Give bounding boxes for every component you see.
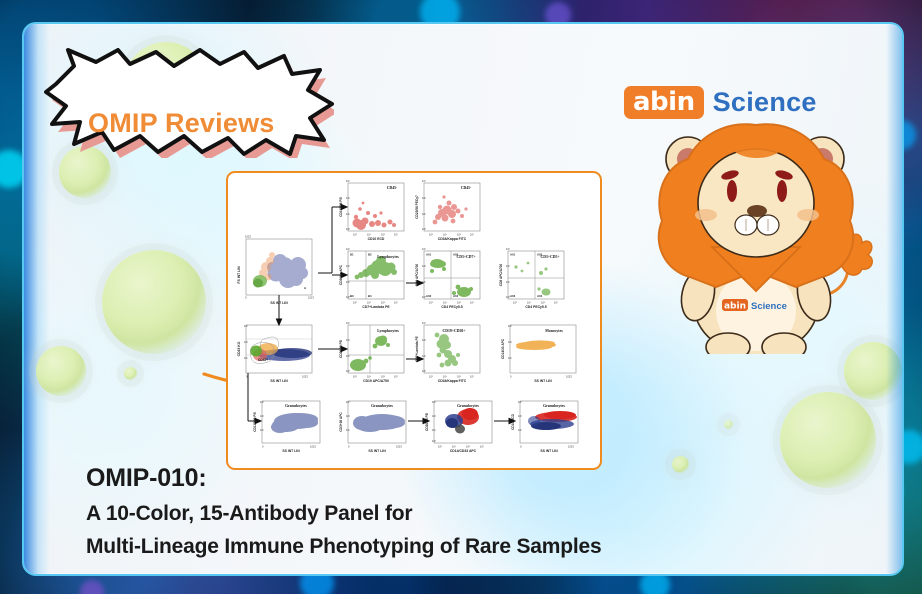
svg-text:10³: 10³ [244, 324, 248, 328]
svg-text:10³: 10³ [346, 179, 350, 183]
brand-logo-word: Science [713, 87, 817, 118]
svg-text:10³: 10³ [422, 247, 426, 251]
plot-p8-title: Lymphocytes [377, 329, 399, 333]
svg-text:10²: 10² [518, 414, 522, 418]
svg-text:10⁰: 10⁰ [429, 233, 434, 237]
svg-text:0: 0 [520, 445, 522, 449]
svg-text:10³: 10³ [346, 400, 350, 404]
svg-text:10¹: 10¹ [367, 301, 371, 305]
plot-p10: Monocytes SS INT LIN CD14/33 APC 10³10²1… [501, 324, 576, 383]
svg-text:10¹: 10¹ [346, 280, 350, 284]
svg-text:10⁰: 10⁰ [353, 233, 358, 237]
svg-text:10³: 10³ [422, 179, 426, 183]
svg-text:10³: 10³ [422, 321, 426, 325]
svg-text:10¹: 10¹ [452, 445, 456, 449]
burst-label: OMIP Reviews [88, 108, 274, 139]
svg-text:10³: 10³ [470, 233, 474, 237]
svg-text:10²: 10² [422, 338, 426, 342]
figure-canvas: A SS INT LIN FS INT LIN 1023 0 1023 [228, 173, 600, 468]
svg-text:0: 0 [245, 296, 247, 300]
plot-p11-title: Granulocytes [285, 404, 307, 408]
svg-text:B3: B3 [350, 294, 354, 298]
plot-p10-title: Monocytes [545, 329, 563, 333]
svg-text:10²: 10² [244, 340, 248, 344]
svg-text:10⁰: 10⁰ [513, 301, 518, 305]
svg-text:B4: B4 [368, 294, 372, 298]
svg-text:A01: A01 [510, 253, 516, 257]
plot-p13-xlabel: CD14/CD33 APC [450, 449, 477, 453]
svg-text:10³: 10³ [260, 400, 264, 404]
svg-text:1023: 1023 [245, 235, 251, 239]
plot-p12-ylabel: CD3+38 APC [339, 412, 343, 432]
plot-p3: CD45- CD34/Kappa FITC CD23/56 PECy7 10³1… [415, 179, 480, 241]
lion-mascot: abin Science [636, 119, 881, 354]
title-block: OMIP-010: A 10-Color, 15-Antibody Panel … [86, 464, 846, 559]
plot-p9: CD19+CD20+ CD34/Kappa FITC CD7+Lambda PE… [415, 321, 480, 383]
svg-text:10¹: 10¹ [443, 233, 447, 237]
plot-p12-title: Granulocytes [371, 404, 393, 408]
svg-text:10¹: 10¹ [244, 356, 248, 360]
svg-text:10²: 10² [346, 264, 350, 268]
plot-p6-title: CD3+CD7+ [456, 255, 475, 259]
svg-text:10²: 10² [381, 301, 385, 305]
cell-decoration [724, 420, 733, 429]
svg-text:10¹: 10¹ [527, 301, 531, 305]
plot-p12-xlabel: SS INT LIN [368, 449, 386, 453]
plot-p3-title: CD45- [461, 186, 472, 190]
plot-p5-xlabel: CD7+Lambda PE [362, 305, 390, 309]
plot-p11: Granulocytes SS INT LIN CD117/38 PB 10³1… [253, 400, 320, 453]
svg-text:10¹: 10¹ [367, 233, 371, 237]
svg-text:1023: 1023 [310, 445, 316, 449]
plot-p2-title: CD45- [387, 186, 398, 190]
svg-text:10³: 10³ [432, 400, 436, 404]
svg-text:10³: 10³ [506, 247, 510, 251]
comic-burst: OMIP Reviews [44, 48, 334, 158]
plot-p8: Lymphocytes CD19 APC/A750 CD20/38 PB 10³… [339, 321, 404, 383]
svg-text:10³: 10³ [394, 375, 398, 379]
svg-text:10¹: 10¹ [346, 428, 350, 432]
svg-text:A04: A04 [537, 294, 543, 298]
svg-text:10²: 10² [346, 196, 350, 200]
svg-text:10³: 10³ [470, 301, 474, 305]
svg-text:10²: 10² [457, 233, 461, 237]
plot-p14-title: Granulocytes [543, 404, 565, 408]
plot-p4-xlabel: SS INT LIN [270, 379, 288, 383]
svg-text:10¹: 10¹ [422, 354, 426, 358]
plot-p14-xlabel: SS INT LIN [540, 449, 558, 453]
plot-p13-title: Granulocytes [457, 404, 479, 408]
svg-text:10¹: 10¹ [422, 212, 426, 216]
svg-text:10²: 10² [432, 414, 436, 418]
svg-text:A01: A01 [426, 253, 432, 257]
svg-text:B2: B2 [368, 253, 372, 257]
svg-text:10³: 10³ [508, 324, 512, 328]
plot-p10-ylabel: CD14/33 APC [501, 338, 505, 359]
svg-text:1023: 1023 [308, 296, 314, 300]
svg-text:10³: 10³ [518, 400, 522, 404]
svg-text:0: 0 [510, 375, 512, 379]
svg-text:10³: 10³ [394, 301, 398, 305]
plot-p10-xlabel: SS INT LIN [534, 379, 552, 383]
plot-p2-xlabel: CD10 ECD [368, 237, 385, 241]
mascot-chest-logo-word: Science [751, 301, 787, 312]
svg-text:10²: 10² [381, 375, 385, 379]
plot-p5: B1B2 B3B4 Lymphocytes CD7+Lambda PE CD3/… [339, 247, 404, 309]
content-card: abin Science OMIP Reviews abin Science [22, 22, 904, 576]
svg-text:10³: 10³ [394, 233, 398, 237]
svg-text:10²: 10² [457, 301, 461, 305]
svg-text:10¹: 10¹ [367, 375, 371, 379]
plot-p3-xlabel: CD34/Kappa FITC [438, 237, 467, 241]
svg-text:1023: 1023 [396, 445, 402, 449]
title-line-2: A 10-Color, 15-Antibody Panel for [86, 502, 846, 526]
svg-text:A03: A03 [426, 294, 432, 298]
svg-text:10³: 10³ [346, 321, 350, 325]
plot-p6: A01A02 A03A04 CD3+CD7+ CD4 PECy5.5 CD8 A… [415, 247, 480, 309]
svg-text:10¹: 10¹ [346, 212, 350, 216]
plot-p13: Granulocytes CD14/CD33 APC CD20/38 PB 10… [425, 400, 492, 453]
svg-text:10²: 10² [457, 375, 461, 379]
plot-p7: A01A02 A03A04 CD3+CD5+ CD4 PECy5.5 CD8 A… [499, 247, 564, 309]
mascot-chest-logo-mark: abin [724, 302, 746, 312]
svg-text:10²: 10² [422, 264, 426, 268]
plot-p4-ylabel: CD45 KO [237, 341, 241, 356]
svg-text:10¹: 10¹ [518, 428, 522, 432]
svg-text:1023: 1023 [568, 445, 574, 449]
svg-text:10¹: 10¹ [432, 428, 436, 432]
plot-p7-xlabel: CD4 PECy5.5 [525, 305, 546, 309]
brand-logo[interactable]: abin Science [624, 86, 817, 119]
brand-logo-mark: abin [624, 86, 704, 119]
svg-text:10³: 10³ [554, 301, 558, 305]
plot-p9-title: CD19+CD20+ [443, 329, 466, 333]
svg-text:10¹: 10¹ [443, 375, 447, 379]
plot-p1: A SS INT LIN FS INT LIN 1023 0 1023 [237, 235, 314, 306]
plot-p4-gate-label: CD45+ [258, 358, 268, 362]
svg-text:1023: 1023 [302, 375, 308, 379]
svg-text:10³: 10³ [480, 445, 484, 449]
cell-decoration [36, 346, 86, 396]
svg-text:10³: 10³ [470, 375, 474, 379]
svg-text:10²: 10² [506, 264, 510, 268]
title-line-1: OMIP-010: [86, 464, 846, 493]
plot-p7-title: CD3+CD5+ [540, 255, 559, 259]
svg-text:0: 0 [348, 445, 350, 449]
svg-text:A03: A03 [510, 294, 516, 298]
svg-text:10¹: 10¹ [506, 280, 510, 284]
poster-stage: abin Science OMIP Reviews abin Science [0, 0, 922, 594]
svg-text:10¹: 10¹ [508, 356, 512, 360]
svg-text:10²: 10² [508, 340, 512, 344]
svg-text:10²: 10² [346, 414, 350, 418]
svg-text:10³: 10³ [346, 247, 350, 251]
plot-p5-title: Lymphocytes [377, 255, 399, 259]
svg-text:10¹: 10¹ [346, 354, 350, 358]
svg-text:10²: 10² [422, 196, 426, 200]
plot-p3-ylabel: CD23/56 PECy7 [415, 195, 419, 219]
cell-decoration [124, 367, 137, 380]
svg-text:10¹: 10¹ [260, 428, 264, 432]
plot-p8-xlabel: CD19 APC/A750 [363, 379, 389, 383]
svg-text:B1: B1 [350, 253, 354, 257]
plot-p6-xlabel: CD4 PECy5.5 [441, 305, 462, 309]
plot-p1-ylabel: FS INT LIN [237, 266, 241, 284]
plot-p2: CD45- CD10 ECD CD117/38 PB 10³10²10¹10⁰ … [339, 179, 404, 241]
svg-text:10²: 10² [381, 233, 385, 237]
svg-text:10²: 10² [346, 338, 350, 342]
svg-text:10⁰: 10⁰ [429, 301, 434, 305]
plot-p7-ylabel: CD8 APC/A700 [499, 264, 503, 287]
plot-p14: Granulocytes SS INT LIN CD10 ECD 10³10²1… [511, 400, 578, 453]
svg-text:A04: A04 [453, 294, 459, 298]
plot-p9-xlabel: CD34/Kappa FITC [438, 379, 467, 383]
svg-text:10⁰: 10⁰ [353, 301, 358, 305]
plot-p12: Granulocytes SS INT LIN CD3+38 APC 10³10… [339, 400, 406, 453]
flow-cytometry-figure[interactable]: A SS INT LIN FS INT LIN 1023 0 1023 [226, 171, 602, 470]
svg-text:10²: 10² [260, 414, 264, 418]
plot-p11-xlabel: SS INT LIN [282, 449, 300, 453]
title-line-3: Multi-Lineage Immune Phenotyping of Rare… [86, 535, 846, 559]
svg-text:10²: 10² [466, 445, 470, 449]
svg-text:10⁰: 10⁰ [353, 375, 358, 379]
svg-text:10⁰: 10⁰ [438, 445, 443, 449]
svg-text:10²: 10² [541, 301, 545, 305]
svg-text:10¹: 10¹ [443, 301, 447, 305]
svg-text:1023: 1023 [566, 375, 572, 379]
svg-text:0: 0 [262, 445, 264, 449]
svg-text:10⁰: 10⁰ [429, 375, 434, 379]
